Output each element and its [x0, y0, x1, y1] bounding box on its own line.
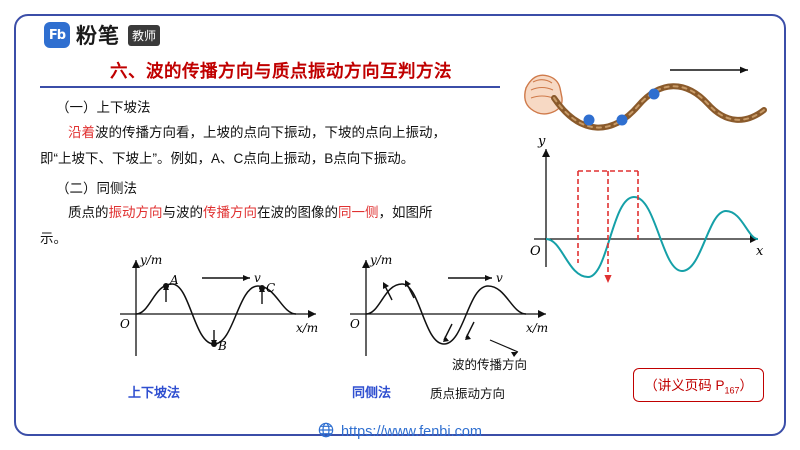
label-vibration-direction: 质点振动方向 — [430, 383, 505, 402]
para2-c: 与波的 — [163, 205, 204, 220]
para2-f: 同一侧 — [338, 205, 379, 220]
g1-v-label: v — [254, 271, 261, 285]
rope-point-a — [584, 115, 595, 126]
g2-y-label: y/m — [369, 253, 392, 267]
section-2-heading: （二）同侧法 — [56, 176, 137, 202]
g1-origin: O — [120, 317, 130, 331]
brand-badge: 教师 — [128, 25, 160, 46]
page-title: 六、波的传播方向与质点振动方向互判方法 — [110, 58, 452, 83]
graph-2-caption: 同侧法 — [352, 382, 391, 401]
section-2-body: 质点的振动方向与波的传播方向在波的图像的同一侧，如图所 示。 — [40, 200, 510, 251]
rope-point-b — [617, 115, 628, 126]
page-reference-badge: （讲义页码 P167） — [633, 368, 764, 402]
g1-x-label: x/m — [296, 321, 318, 335]
g1-label-a: A — [169, 273, 179, 287]
footer-url-bar: https://www.fenbi.com — [0, 422, 800, 442]
g2-origin: O — [350, 317, 360, 331]
graph-uphill-downhill: y/m x/m O v A B C — [110, 252, 330, 367]
globe-icon — [318, 422, 334, 442]
hand-icon — [525, 75, 562, 114]
section-1-heading: （一）上下坡法 — [56, 95, 151, 121]
section-1-body: 沿着波的传播方向看，上坡的点向下振动，下坡的点向上振动， 即“上坡下、下坡上”。… — [40, 120, 510, 171]
g1-label-c: C — [266, 281, 275, 295]
para1-line2: 即“上坡下、下坡上”。例如，A、C点向上振动，B点向下振动。 — [40, 151, 414, 166]
title-divider — [40, 86, 500, 88]
big-x-label: x — [756, 244, 764, 259]
page-ref-tail: ） — [740, 378, 754, 393]
para2-g: ，如图所 — [379, 205, 433, 220]
g2-v-label: v — [496, 271, 503, 285]
para2-b: 振动方向 — [109, 205, 163, 220]
g1-y-label: y/m — [139, 253, 162, 267]
para2-e: 在波的图像的 — [257, 205, 338, 220]
brand-logo: Fb 粉笔 教师 — [36, 20, 168, 50]
g2-x-label: x/m — [526, 321, 548, 335]
graph-same-side: y/m x/m O v — [340, 252, 560, 367]
para2-a: 质点的 — [68, 205, 109, 220]
graph-1-caption: 上下坡法 — [128, 382, 180, 401]
footer-url[interactable]: https://www.fenbi.com — [341, 424, 482, 440]
g1-label-b: B — [217, 339, 227, 353]
big-y-label: y — [537, 134, 546, 149]
para2-d: 传播方向 — [203, 205, 257, 220]
para1-emph: 沿着 — [68, 125, 95, 140]
label-propagation-direction: 波的传播方向 — [452, 354, 527, 373]
para1-rest: 波的传播方向看，上坡的点向下振动，下坡的点向上振动， — [95, 125, 446, 140]
brand-name: 粉笔 — [76, 20, 120, 50]
brand-mark-icon: Fb — [44, 22, 70, 48]
page-ref-number: 167 — [724, 386, 739, 396]
rope-point-c — [649, 89, 660, 100]
para2-h: 示。 — [40, 231, 67, 246]
rope-illustration — [520, 62, 770, 142]
g2-leader-1 — [490, 340, 518, 352]
page-ref-text: （讲义页码 P — [644, 378, 724, 393]
